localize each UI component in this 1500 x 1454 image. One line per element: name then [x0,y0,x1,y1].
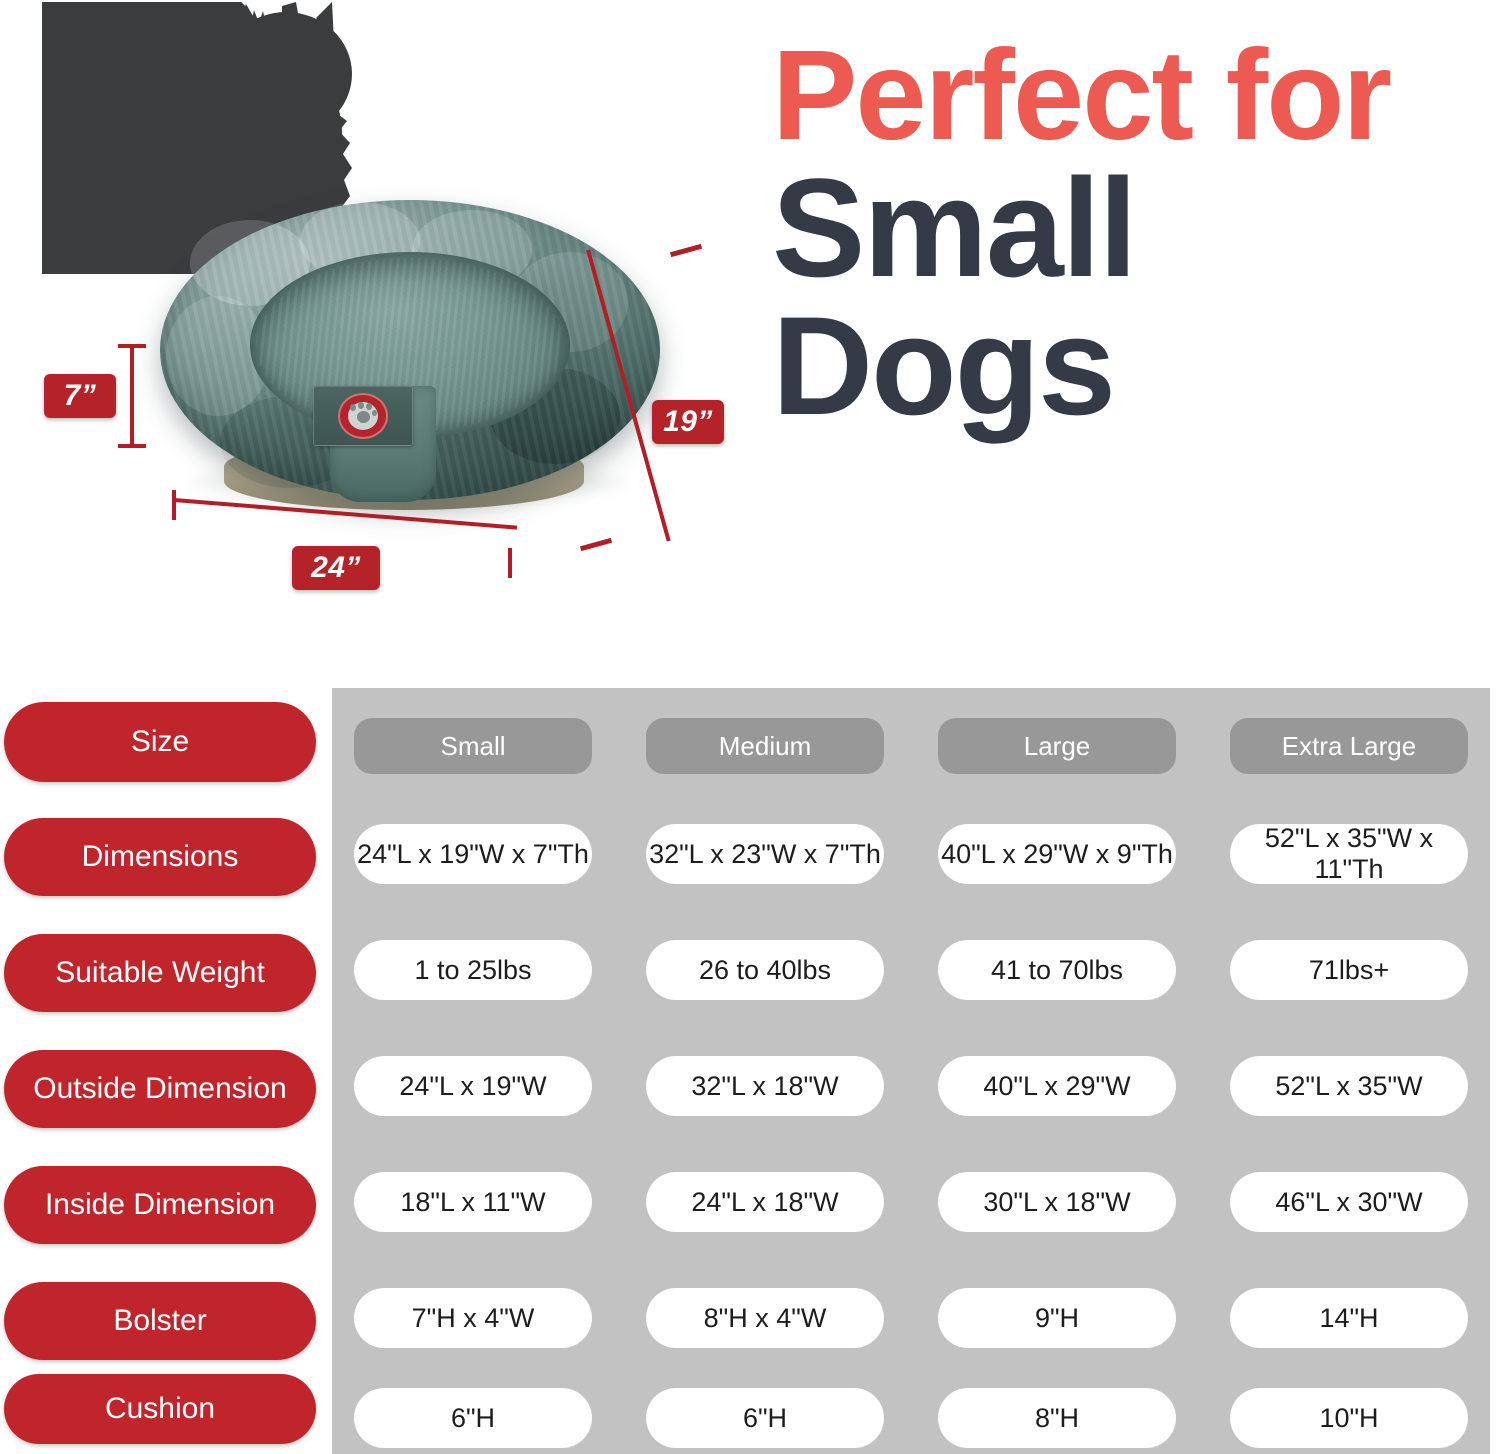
table-cell: 52"L x 35"W [1230,1056,1468,1116]
table-cell: 24"L x 19"W [354,1056,592,1116]
table-cell: 24"L x 19"W x 7"Th [354,824,592,884]
table-cell: 18"L x 11"W [354,1172,592,1232]
row-label-dimensions: Dimensions [4,818,316,896]
headline-line-1: Perfect for [772,36,1492,156]
table-cell: 30"L x 18"W [938,1172,1176,1232]
table-cell: 41 to 70lbs [938,940,1176,1000]
table-cell: 52"L x 35"W x 11"Th [1230,824,1468,884]
size-chart-label-column: SizeDimensionsSuitable WeightOutside Dim… [0,688,332,1454]
measure-cap-depth-bottom [580,538,612,551]
row-label-suitable-weight: Suitable Weight [4,934,316,1012]
table-cell: 26 to 40lbs [646,940,884,1000]
product-image-pet-bed [158,190,668,520]
row-label-size: Size [4,702,316,782]
headline-line-2: Small [772,162,1492,294]
row-label-inside-dimension: Inside Dimension [4,1166,316,1244]
table-cell: 8"H x 4"W [646,1288,884,1348]
measure-cap-height-top [118,344,146,348]
row-label-outside-dimension: Outside Dimension [4,1050,316,1128]
table-cell: 32"L x 18"W [646,1056,884,1116]
table-cell: 7"H x 4"W [354,1288,592,1348]
paw-print-icon [348,402,378,430]
table-cell: 9"H [938,1288,1176,1348]
headline: Perfect for Small Dogs [772,36,1492,432]
table-cell: 6"H [646,1388,884,1448]
size-chart-panel: SmallMediumLargeExtra Large24"L x 19"W x… [332,688,1490,1454]
table-cell: 8"H [938,1388,1176,1448]
column-header-small: Small [354,718,592,774]
column-header-extra-large: Extra Large [1230,718,1468,774]
table-cell: 71lbs+ [1230,940,1468,1000]
measure-cap-height-bottom [118,444,146,448]
column-header-medium: Medium [646,718,884,774]
measure-line-height [130,344,134,448]
table-cell: 32"L x 23"W x 7"Th [646,824,884,884]
table-cell: 10"H [1230,1388,1468,1448]
measure-badge-depth: 19” [652,400,724,444]
measure-cap-width-right [508,548,512,578]
measure-badge-width: 24” [292,546,380,590]
table-cell: 24"L x 18"W [646,1172,884,1232]
headline-line-3: Dogs [772,300,1492,432]
row-label-cushion: Cushion [4,1374,316,1444]
table-cell: 40"L x 29"W x 9"Th [938,824,1176,884]
table-cell: 46"L x 30"W [1230,1172,1468,1232]
measure-cap-depth-top [670,244,702,257]
measure-badge-height: 7” [44,374,116,418]
brand-logo-circle [338,393,388,439]
table-cell: 1 to 25lbs [354,940,592,1000]
column-header-large: Large [938,718,1176,774]
size-chart: SmallMediumLargeExtra Large24"L x 19"W x… [0,688,1500,1454]
table-cell: 40"L x 29"W [938,1056,1176,1116]
row-label-bolster: Bolster [4,1282,316,1360]
brand-tag [313,386,413,446]
measure-cap-width-left [172,490,176,520]
hero-section: 7” 19” 24” Perfect for Small Dogs [0,0,1500,680]
table-cell: 14"H [1230,1288,1468,1348]
table-cell: 6"H [354,1388,592,1448]
